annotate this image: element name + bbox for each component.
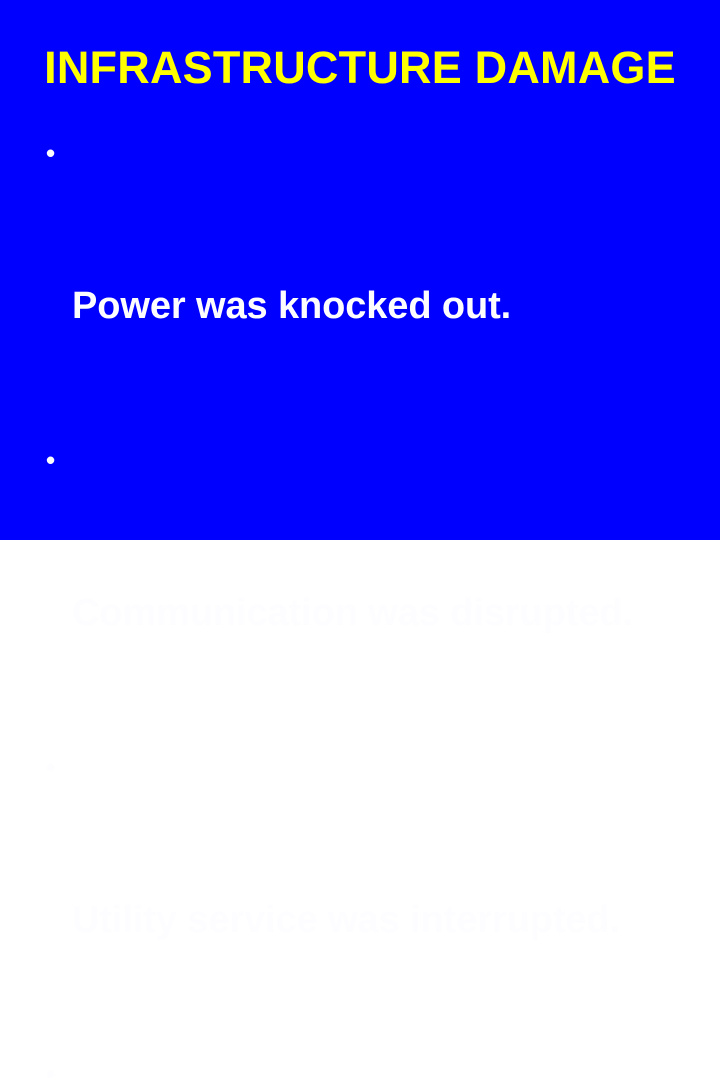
bullet-point-icon: •: [46, 742, 60, 793]
bullet-point-icon: •: [46, 435, 60, 486]
page-title: INFRASTRUCTURE DAMAGE: [0, 44, 720, 92]
list-item: • Roads were damaged.: [40, 1049, 680, 1080]
list-item-label: Communication was disrupted.: [72, 588, 680, 639]
list-item-label: Power was knocked out.: [72, 281, 680, 332]
bullet-point-icon: •: [46, 128, 60, 179]
bullet-point-icon: •: [46, 1049, 60, 1080]
list-item: • Utility service was interrupted.: [40, 742, 680, 1048]
list-item: • Communication was disrupted.: [40, 435, 680, 741]
presentation-slide: INFRASTRUCTURE DAMAGE • Power was knocke…: [0, 0, 720, 540]
list-item-label: Utility service was interrupted.: [72, 895, 680, 946]
list-item: • Power was knocked out.: [40, 128, 680, 434]
bullet-list: • Power was knocked out. • Communication…: [40, 128, 680, 1080]
